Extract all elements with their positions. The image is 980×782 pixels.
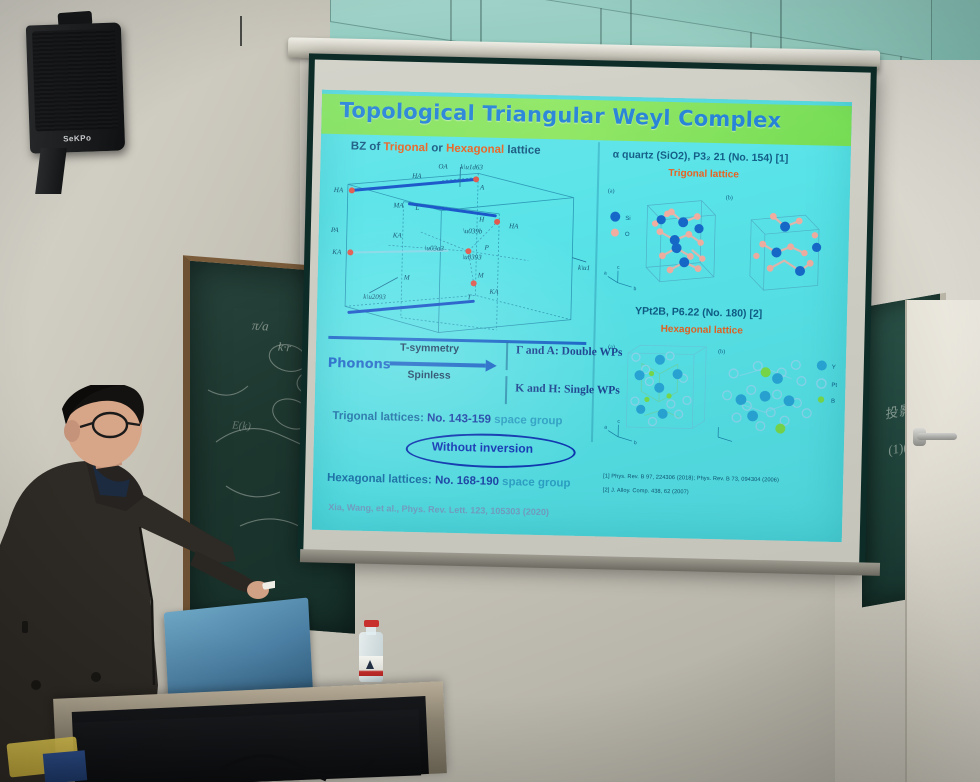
quartz-legend-si: Si [625, 216, 630, 222]
hexagonal-lattice-line: Hexagonal lattices: No. 168-190 space gr… [327, 472, 571, 490]
reference-2: [2] J. Alloy. Comp. 438, 62 (2007) [603, 486, 689, 498]
chalk-piece [262, 580, 275, 590]
svg-text:(a): (a) [608, 187, 615, 194]
svg-text:M: M [403, 274, 411, 282]
phonons-label: Phonons [328, 356, 391, 372]
svg-text:a: a [604, 270, 607, 276]
svg-text:OA: OA [438, 162, 448, 170]
svg-text:c: c [617, 265, 620, 271]
svg-text:HA: HA [411, 172, 422, 180]
ypt2b-heading: YPt2B, P6.22 (No. 180) [2] [635, 305, 762, 320]
slide-column-divider [591, 142, 600, 442]
presentation-slide: Topological Triangular Weyl Complex BZ o… [312, 90, 852, 542]
speaker-brand-label: SeKPo [30, 132, 125, 144]
slide-subtitle-pre: BZ of [351, 140, 384, 153]
svg-text:\u03a3: \u03a3 [424, 244, 444, 252]
hexagonal-space-group-tail: space group [499, 476, 571, 490]
slide-subtitle-hexagonal: Hexagonal [446, 143, 504, 156]
svg-text:M: M [477, 271, 485, 279]
ypt2b-legend-pt: Pt [831, 383, 837, 389]
lecture-hall-scene: SeKPo π/a k·r E(k) 投影机 (1)(2) Topo [0, 0, 980, 782]
door[interactable] [905, 300, 980, 782]
hexagonal-lattice-label: Hexagonal lattices: [327, 472, 435, 487]
bz-svg: HAOA HHA HAKA PAMA LKA \u039bP \u0393A \… [326, 156, 592, 340]
svg-text:\u039b: \u039b [463, 227, 483, 235]
quartz-sublabel: Trigonal lattice [668, 168, 739, 181]
svg-text:\u0393: \u0393 [462, 253, 482, 261]
svg-text:PA: PA [330, 226, 340, 234]
slide-subtitle-mid: or [428, 142, 446, 154]
slide-subtitle-post: lattice [504, 144, 541, 157]
brillouin-zone-diagram: HAOA HHA HAKA PAMA LKA \u039bP \u0393A \… [326, 156, 592, 340]
svg-text:k\u1d63: k\u1d63 [460, 163, 483, 172]
door-handle[interactable] [917, 433, 957, 440]
svg-text:k\u2093: k\u2093 [363, 293, 386, 302]
svg-text:c: c [617, 419, 620, 425]
result-bracket-top [506, 342, 509, 370]
svg-text:HA: HA [508, 222, 519, 230]
svg-text:KA: KA [392, 231, 403, 239]
quartz-structure-figure: (a) (b) [603, 182, 846, 300]
svg-text:KA: KA [331, 248, 342, 256]
result-gamma-a: Γ and A: Double WPs [516, 344, 623, 359]
arrow-label-bottom: Spinless [407, 369, 450, 382]
result-bracket-bottom [505, 376, 508, 404]
svg-text:L: L [414, 204, 419, 212]
svg-text:a: a [604, 424, 607, 430]
desk-object-blue [43, 750, 87, 782]
svg-text:(b): (b) [726, 194, 733, 201]
svg-text:b: b [634, 440, 637, 446]
speaker-grille [32, 29, 118, 132]
podium-cables [210, 730, 410, 782]
result-k-h: K and H: Single WPs [515, 382, 620, 396]
ypt2b-structure-figure: (a) (b) [604, 338, 842, 450]
slide-subtitle-trigonal: Trigonal [383, 141, 428, 154]
ypt2b-legend-b: B [831, 399, 835, 405]
bottle-cap [364, 620, 379, 627]
presenter-ear [64, 420, 80, 442]
svg-text:P: P [483, 244, 489, 252]
quartz-legend-o: O [625, 232, 630, 238]
hexagonal-space-group-number: No. 168-190 [435, 474, 499, 488]
quartz-heading: α quartz (SiO2), P3₂ 21 (No. 154) [1] [613, 149, 789, 165]
water-bottle[interactable] [357, 620, 385, 682]
arrow-label-top: T-symmetry [400, 342, 459, 355]
screen-cord-left [240, 16, 242, 46]
ypt2b-legend-y: Y [832, 365, 836, 371]
wall-speaker: SeKPo [26, 22, 125, 153]
slide-subtitle: BZ of Trigonal or Hexagonal lattice [351, 140, 541, 156]
svg-text:(b): (b) [718, 348, 725, 355]
trigonal-space-group-number: No. 143-159 [427, 412, 491, 426]
trigonal-space-group-tail: space group [491, 414, 563, 428]
slide-credit: Xia, Wang, et al., Phys. Rev. Lett. 123,… [328, 502, 549, 517]
svg-text:HA: HA [333, 186, 344, 194]
svg-text:b: b [633, 286, 636, 292]
trigonal-lattice-label: Trigonal lattices: [332, 410, 427, 424]
projector-screen: Topological Triangular Weyl Complex BZ o… [297, 53, 877, 571]
svg-text:H: H [478, 215, 485, 223]
svg-text:MA: MA [392, 201, 404, 209]
transform-arrow-head [486, 360, 497, 372]
svg-text:A: A [479, 183, 485, 191]
transform-arrow-line [390, 361, 486, 367]
reference-1: [1] Phys. Rev. B 97, 224306 (2018); Phys… [603, 472, 779, 486]
trigonal-lattice-line: Trigonal lattices: No. 143-159 space gro… [332, 410, 562, 427]
svg-text:k\u1d67: k\u1d67 [578, 264, 593, 273]
ypt2b-sublabel: Hexagonal lattice [660, 324, 743, 337]
without-inversion-label: Without inversion [432, 439, 534, 455]
svg-text:KA: KA [488, 288, 499, 296]
